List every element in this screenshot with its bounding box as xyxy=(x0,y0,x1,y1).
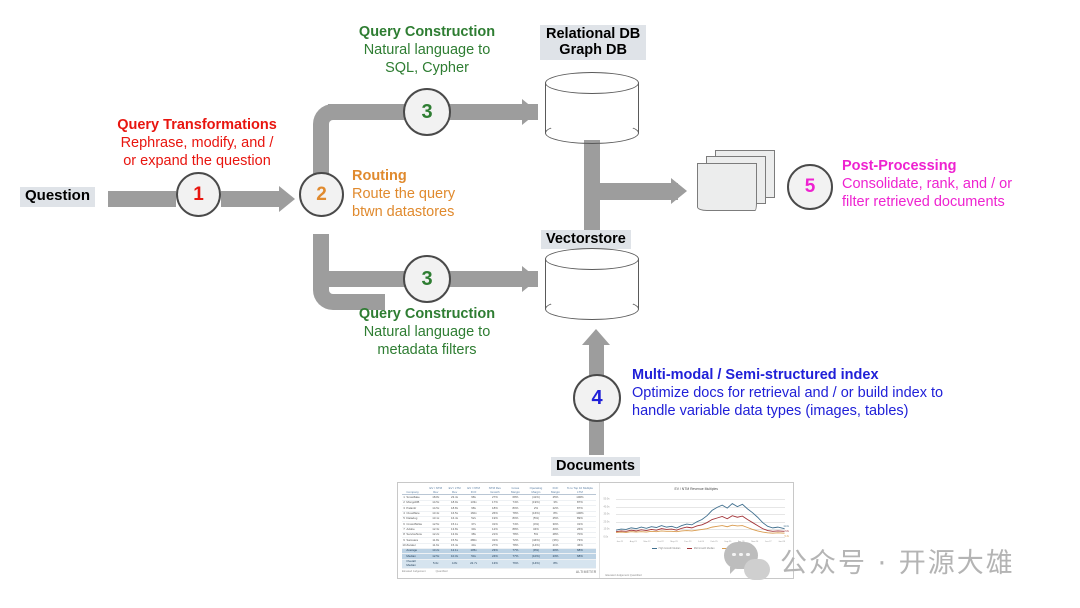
document-page-front xyxy=(697,163,757,211)
relational-db-line1: Relational DB xyxy=(546,26,640,42)
arrowhead-to-relational-db xyxy=(522,99,538,125)
annotation-heading: Query Construction xyxy=(337,24,517,42)
legend-item-high-growth: High Growth Median xyxy=(652,547,680,550)
chart-x-tick: Jul-24 xyxy=(698,541,704,543)
diagram-canvas: Question Relational DB Graph DB Vectorst… xyxy=(0,0,1080,608)
table-header-cell: Gross Margin xyxy=(506,487,524,495)
arrowhead-to-vectorstore xyxy=(522,266,538,292)
annotation-heading: Routing xyxy=(352,168,455,186)
label-documents: Documents xyxy=(551,457,640,476)
table-header-row: Company EV / NTM Rev EV / LTM Rev EV / N… xyxy=(402,487,596,495)
annotation-query-transformations: Query Transformations Rephrase, modify, … xyxy=(106,117,288,171)
chart-y-tick: 0.0x xyxy=(603,536,608,539)
chart-gridlines xyxy=(616,499,785,537)
thumbnail-chart-panel: EV / NTM Revenue Multiples 50.0x xyxy=(599,483,793,578)
cell: (14%) xyxy=(524,559,547,568)
table-header-cell: EV / NTM FCF xyxy=(464,487,484,495)
vectorstore-cylinder xyxy=(545,248,639,320)
connector-1-to-2 xyxy=(221,191,279,207)
annotation-line-2: or expand the question xyxy=(106,153,288,171)
chart-series-svg xyxy=(616,499,785,537)
legend-label: Low Growth Median xyxy=(728,547,749,550)
step-circle-4[interactable]: 4 xyxy=(573,374,621,422)
watermark-text: 公众号 · 开源大雄 xyxy=(780,541,1015,580)
connector-question-to-1 xyxy=(108,191,176,207)
cylinder-bottom-ellipse xyxy=(545,122,639,144)
step-circle-2[interactable]: 2 xyxy=(299,172,344,217)
annotation-query-construction-sql: Query Construction Natural language to S… xyxy=(337,24,517,78)
cell: 4.8x xyxy=(445,559,463,568)
annotation-line-2: filter retrieved documents xyxy=(842,194,1012,212)
table-header-cell: % to Top 10 Multiple LTM xyxy=(563,487,596,495)
chart-x-axis-labels: Jan-21 Aug-21 Mar-22 Oct-22 May-23 Dec-2… xyxy=(616,541,785,543)
store-label-vectorstore: Vectorstore xyxy=(541,230,631,249)
chart-x-tick: Apr-26 xyxy=(738,541,745,543)
retrieved-document-stack xyxy=(697,150,779,214)
chart-footer-text: Elevated Judgement Quantified xyxy=(605,574,641,577)
cylinder-bottom-ellipse xyxy=(545,298,639,320)
chart-y-tick: 40.0x xyxy=(603,505,609,508)
entry-label-question: Question xyxy=(20,187,95,207)
chart-title: EV / NTM Revenue Multiples xyxy=(603,487,789,491)
cell: 5.0x xyxy=(426,559,445,568)
chart-plot-area: 50.0x 40.0x 30.0x 20.0x 10.0x 0.0x 11.0x… xyxy=(603,493,789,551)
chart-x-tick: Jun-27 xyxy=(765,541,772,543)
chart-x-tick: Aug-21 xyxy=(630,541,637,543)
table-header-cell: NTM Rev Growth xyxy=(483,487,506,495)
chart-x-tick: Oct-22 xyxy=(657,541,664,543)
annotation-line-1: Natural language to xyxy=(337,42,517,60)
arrowhead-to-document-stack xyxy=(671,178,687,204)
financial-table-body: 1Snowflake18.8x23.4x98x27%68%(41%)25%100… xyxy=(402,495,596,568)
table-header-cell: EV / LTM Rev xyxy=(445,487,463,495)
chart-x-tick: May-23 xyxy=(670,541,677,543)
step-circle-5[interactable]: 5 xyxy=(787,164,833,210)
chart-x-tick: Jan-28 xyxy=(778,541,785,543)
annotation-heading: Query Construction xyxy=(337,306,517,324)
annotation-line-1: Consolidate, rank, and / or xyxy=(842,176,1012,194)
legend-item-low-growth: Low Growth Median xyxy=(722,547,750,550)
annotation-heading: Post-Processing xyxy=(842,158,1012,176)
cell: Overall Median xyxy=(406,559,426,568)
thumbnail-table-panel: Company EV / NTM Rev EV / LTM Rev EV / N… xyxy=(398,483,599,578)
table-overall-median-row: Overall Median5.0x4.8x22.7x13%76%(14%)8% xyxy=(402,559,596,568)
legend-label: High Growth Median xyxy=(659,547,681,550)
annotation-line-1: Rephrase, modify, and / xyxy=(106,135,288,153)
cylinder-top-ellipse xyxy=(545,72,639,94)
annotation-line-2: btwn datastores xyxy=(352,204,455,222)
cell: 13% xyxy=(483,559,506,568)
arrowhead-documents-to-vectorstore xyxy=(582,329,610,345)
connector-merge-to-documents xyxy=(592,183,678,200)
table-footer: Elevated Judgement Quantified ALTIMETER xyxy=(402,570,596,574)
gridline xyxy=(616,537,785,538)
chart-x-tick: Sep-25 xyxy=(724,541,731,543)
annotation-query-construction-metadata: Query Construction Natural language to m… xyxy=(337,306,517,360)
table-header-cell: EV / NTM Rev xyxy=(426,487,445,495)
chart-x-tick: Feb-25 xyxy=(711,541,718,543)
annotation-multimodal-index: Multi-modal / Semi-structured index Opti… xyxy=(632,367,943,421)
annotation-line-2: metadata filters xyxy=(337,342,517,360)
relational-db-line2: Graph DB xyxy=(559,42,627,58)
financial-table: Company EV / NTM Rev EV / LTM Rev EV / N… xyxy=(402,487,596,569)
chart-legend: High Growth Median Mid Growth Median Low… xyxy=(616,547,785,550)
cell: 76% xyxy=(506,559,524,568)
step-circle-1[interactable]: 1 xyxy=(176,172,221,217)
annotation-routing: Routing Route the query btwn datastores xyxy=(352,168,455,222)
footer-mid-text: Quantified xyxy=(436,570,448,574)
chart-y-tick: 20.0x xyxy=(603,520,609,523)
chart-end-label-low: 5.3x xyxy=(784,535,789,538)
legend-label: Mid Growth Median xyxy=(694,547,715,550)
legend-item-mid-growth: Mid Growth Median xyxy=(687,547,714,550)
annotation-heading: Multi-modal / Semi-structured index xyxy=(632,367,943,385)
chart-end-label-high: 11.0x xyxy=(783,525,789,528)
table-header-cell: FCF Margin xyxy=(547,487,563,495)
chart-x-tick: Jan-21 xyxy=(616,541,623,543)
annotation-line-2: SQL, Cypher xyxy=(337,60,517,78)
annotation-line-1: Optimize docs for retrieval and / or bui… xyxy=(632,385,943,403)
chart-x-tick: Dec-23 xyxy=(684,541,691,543)
annotation-line-1: Route the query xyxy=(352,186,455,204)
brand-wordmark: ALTIMETER xyxy=(576,570,597,574)
step-circle-3-metadata[interactable]: 3 xyxy=(403,255,451,303)
step-circle-3-sql[interactable]: 3 xyxy=(403,88,451,136)
table-header-cell: Operating Margin xyxy=(524,487,547,495)
annotation-post-processing: Post-Processing Consolidate, rank, and /… xyxy=(842,158,1012,212)
chart-y-tick: 10.0x xyxy=(603,528,609,531)
documents-thumbnail: Company EV / NTM Rev EV / LTM Rev EV / N… xyxy=(397,482,794,579)
cylinder-top-ellipse xyxy=(545,248,639,270)
footer-left-text: Elevated Judgement xyxy=(402,570,426,574)
chart-y-tick: 50.0x xyxy=(603,498,609,501)
chart-x-tick: Mar-22 xyxy=(644,541,651,543)
cell: 22.7x xyxy=(464,559,484,568)
store-label-relational-db: Relational DB Graph DB xyxy=(540,25,646,60)
annotation-line-1: Natural language to xyxy=(337,324,517,342)
chart-y-tick: 30.0x xyxy=(603,513,609,516)
annotation-heading: Query Transformations xyxy=(106,117,288,135)
arrowhead-1-to-2 xyxy=(279,186,295,212)
relational-db-cylinder xyxy=(545,72,639,144)
annotation-line-2: handle variable data types (images, tabl… xyxy=(632,403,943,421)
table-header-cell: Company xyxy=(406,487,426,495)
cell xyxy=(563,559,596,568)
chart-end-label-mid: 7.8x xyxy=(784,530,789,533)
cell: 8% xyxy=(547,559,563,568)
chart-x-tick: Nov-26 xyxy=(751,541,758,543)
